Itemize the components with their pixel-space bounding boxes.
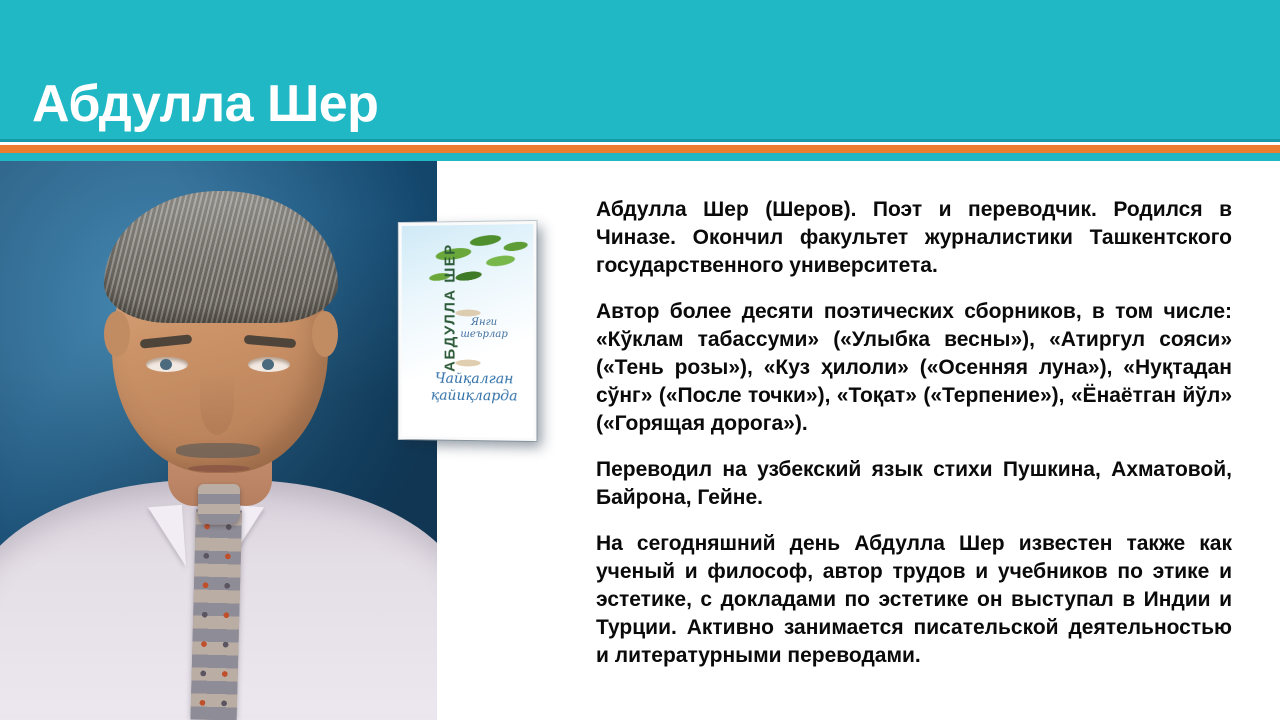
book-cover-image: АБДУЛЛА ШЕР Янги шеърлар Чайқалган қайиқ… [399, 221, 537, 441]
book-subtitle: Янги шеърлар [441, 317, 527, 341]
eye-left [146, 357, 188, 372]
eye-right [248, 357, 290, 372]
accent-bar-orange [0, 145, 1280, 153]
header-divider-line [0, 139, 1280, 142]
book-subtitle-line2: шеърлар [460, 329, 507, 340]
presentation-slide: Абдулла Шер АБДУЛЛА ШЕР Янги шеърлар [0, 0, 1280, 720]
mouth [188, 465, 250, 472]
accent-bar-teal [0, 153, 1280, 161]
biography-text-column: Абдулла Шер (Шеров). Поэт и переводчик. … [596, 196, 1232, 670]
biography-paragraph: Переводил на узбекский язык стихи Пушкин… [596, 456, 1232, 512]
portrait-photo [0, 161, 437, 720]
ear-left [104, 311, 130, 357]
biography-paragraph: Автор более десяти поэтических сборников… [596, 298, 1232, 438]
book-title-line2: қайиқларда [431, 388, 518, 405]
page-title: Абдулла Шер [32, 73, 378, 135]
book-subtitle-line1: Янги [471, 317, 497, 328]
nose [200, 373, 234, 435]
mustache [176, 443, 260, 458]
collar-left [148, 505, 186, 569]
biography-paragraph: На сегодняшний день Абдулла Шер известен… [596, 530, 1232, 670]
ear-right [312, 311, 338, 357]
biography-paragraph: Абдулла Шер (Шеров). Поэт и переводчик. … [596, 196, 1232, 280]
necktie-knot [198, 484, 240, 524]
book-title-line1: Чайқалган [435, 371, 514, 388]
necktie [191, 509, 242, 720]
book-title: Чайқалган қайиқларда [419, 371, 529, 406]
